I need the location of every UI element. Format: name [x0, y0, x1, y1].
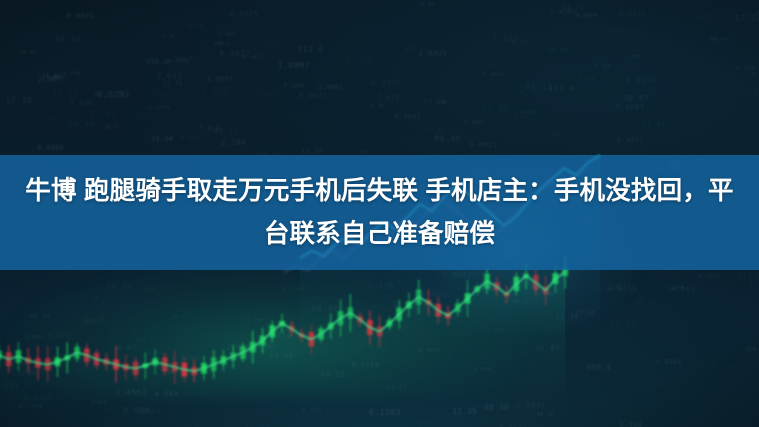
- headline-text: 牛博 跑腿骑手取走万元手机后失联 手机店主：手机没找回，平 台联系自己准备赔偿: [25, 170, 733, 256]
- headline-banner: 牛博 跑腿骑手取走万元手机后失联 手机店主：手机没找回，平 台联系自己准备赔偿: [0, 155, 759, 270]
- article-thumbnail: 12.350.443238.0764.210.4432113.612.355.3…: [0, 0, 759, 427]
- headline-line-1: 牛博 跑腿骑手取走万元手机后失联 手机店主：手机没找回，平: [25, 170, 733, 213]
- headline-line-2: 台联系自己准备赔偿: [25, 213, 733, 256]
